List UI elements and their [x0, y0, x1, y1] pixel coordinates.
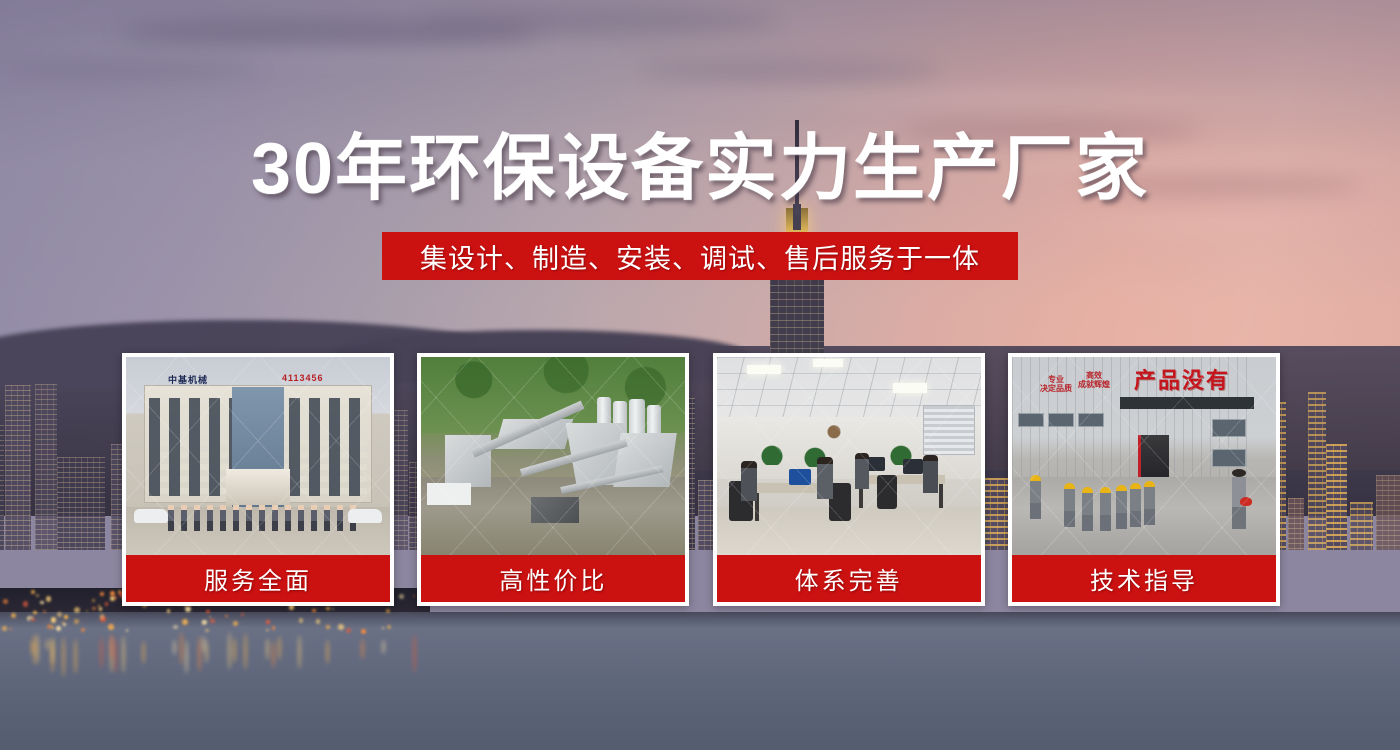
subtitle-banner: 集设计、制造、安装、调试、售后服务于一体 [382, 232, 1018, 280]
worker-legs [1116, 513, 1127, 529]
cloud-band [1000, 215, 1400, 233]
window-blinds [923, 405, 975, 455]
person [923, 455, 938, 493]
white-shed [427, 483, 471, 505]
shore-light [382, 627, 384, 629]
shore-light [346, 628, 351, 633]
worker-legs [1130, 511, 1141, 527]
shore-light [57, 612, 62, 617]
skyline-building [1308, 392, 1326, 550]
worker-body [1064, 489, 1075, 511]
worker [1130, 483, 1141, 527]
company-phone-text: 4113456 [282, 373, 324, 383]
shore-light [74, 619, 78, 623]
shore-light [2, 626, 6, 630]
staff-member [259, 505, 265, 531]
worker [1030, 475, 1041, 519]
staff-member [168, 505, 174, 531]
shore-light [299, 618, 303, 622]
shore-light [338, 624, 344, 630]
water-reflection [110, 634, 113, 660]
supervisor-legs [1232, 507, 1246, 529]
desk-leg [939, 484, 943, 508]
card-thumbnail-headquarters: 中基机械 4113456 [126, 357, 390, 555]
shore-light [43, 610, 46, 613]
supervisor-head [1232, 469, 1246, 477]
skyline-building [5, 385, 31, 550]
person [817, 457, 833, 499]
card-thumbnail-plant [421, 357, 685, 555]
shore-light [100, 592, 104, 596]
window [1078, 413, 1104, 427]
water-reflection [185, 640, 188, 674]
wall-slogan-text: 产品没有 [1134, 363, 1230, 395]
worker [1116, 485, 1127, 529]
shore-light [316, 619, 321, 624]
worker-legs [1082, 515, 1093, 531]
promo-banner: 30年环保设备实力生产厂家 集设计、制造、安装、调试、售后服务于一体 中基机械 … [0, 0, 1400, 750]
monitor [789, 469, 811, 485]
staff-member [207, 505, 213, 531]
card-caption: 体系完善 [717, 555, 981, 602]
staff-member [337, 505, 343, 531]
shore-light [266, 629, 268, 631]
skyline-building [57, 457, 105, 550]
red-helmet [1240, 497, 1252, 506]
skyline-building [1350, 502, 1373, 550]
slogan-left-main: 专业 [1048, 375, 1064, 384]
parked-car [134, 509, 168, 523]
shore-light [126, 629, 128, 631]
water-reflection [244, 633, 247, 670]
shore-light [266, 620, 270, 624]
page-title: 30年环保设备实力生产厂家 [0, 133, 1400, 205]
card-caption: 高性价比 [421, 555, 685, 602]
staff-member [181, 505, 187, 531]
feature-card[interactable]: 高性价比 [417, 353, 689, 606]
shore-light [173, 625, 178, 630]
water-reflection [361, 639, 364, 659]
worker-legs [1064, 511, 1075, 527]
worker [1144, 481, 1155, 525]
slogan-mid-sub: 成就辉煌 [1078, 380, 1110, 389]
shore-light [110, 625, 112, 627]
staff-member [298, 505, 304, 531]
staff-member [324, 505, 330, 531]
staff-member [311, 505, 317, 531]
worker-legs [1144, 509, 1155, 525]
cloud [640, 60, 940, 82]
card-caption: 技术指导 [1012, 555, 1276, 602]
wall-slogan-mid: 高效 成就辉煌 [1078, 371, 1110, 389]
shore-light [326, 607, 330, 611]
shore-light [64, 615, 67, 618]
worker-body [1116, 491, 1127, 513]
window [1048, 413, 1074, 427]
wall-slogan-left: 专业 决定品质 [1040, 375, 1072, 393]
potted-plant [761, 443, 783, 465]
water-reflection [122, 635, 125, 672]
skyline-building [35, 384, 57, 550]
ceiling-light [893, 383, 927, 393]
feature-card[interactable]: 中基机械 4113456 服务全面 [122, 353, 394, 606]
water-reflection [272, 641, 275, 668]
water-reflection [62, 637, 65, 677]
water-reflection [173, 640, 176, 655]
window [1212, 449, 1246, 467]
shore-light [56, 626, 61, 631]
shore-light [74, 607, 80, 613]
feature-card[interactable]: 体系完善 [713, 353, 985, 606]
water-reflection [278, 636, 281, 660]
shore-light [205, 629, 209, 633]
cloud-band [560, 88, 1400, 108]
skyline-building [1376, 475, 1400, 550]
building-entrance [226, 469, 290, 505]
shore-light [272, 626, 276, 630]
shore-light [361, 629, 366, 634]
monitor [867, 457, 885, 471]
staff-member [220, 505, 226, 531]
water-reflection [142, 641, 145, 664]
shore-light [167, 609, 171, 613]
wall-logo [821, 423, 847, 445]
shore-light [386, 609, 390, 613]
shore-light [210, 619, 214, 623]
shore-light [51, 626, 54, 629]
shed [531, 497, 579, 523]
water-reflection [198, 636, 201, 673]
skyline-building [1326, 444, 1347, 550]
shore-light [110, 591, 115, 596]
shore-light [185, 606, 191, 612]
feature-card[interactable]: 产品没有 专业 决定品质 高效 成就辉煌 [1008, 353, 1280, 606]
staff-member [285, 505, 291, 531]
slogan-left-sub: 决定品质 [1040, 384, 1072, 393]
shore-light [110, 596, 115, 601]
shore-light [387, 625, 391, 629]
card-thumbnail-training: 产品没有 专业 决定品质 高效 成就辉煌 [1012, 357, 1276, 555]
worker [1082, 487, 1093, 531]
monitor [903, 459, 923, 474]
shore-light [31, 590, 34, 593]
worker [1100, 487, 1111, 531]
skyline-building [0, 425, 4, 550]
slogan-mid-main: 高效 [1086, 371, 1102, 380]
cloud [0, 60, 260, 80]
water-reflection [51, 639, 54, 673]
worker-legs [1030, 503, 1041, 519]
subtitle-text: 集设计、制造、安装、调试、售后服务于一体 [420, 237, 980, 276]
parked-car [348, 509, 382, 523]
worker-body [1030, 481, 1041, 503]
shore-light [40, 601, 43, 604]
window [1018, 413, 1044, 427]
water-reflection [413, 634, 416, 673]
person [855, 453, 869, 489]
feature-card-list: 中基机械 4113456 服务全面 [122, 353, 1280, 606]
shore-light [332, 608, 334, 610]
worker-body [1082, 493, 1093, 515]
worker-body [1100, 493, 1111, 515]
chair [877, 475, 897, 509]
shore-light [99, 607, 102, 610]
ceiling-light [747, 365, 781, 374]
shore-light [312, 609, 316, 613]
staff-member [233, 505, 239, 531]
staff-member [246, 505, 252, 531]
worker-legs [1100, 515, 1111, 531]
cloud [420, 8, 780, 34]
worker-body [1130, 489, 1141, 511]
worker-body [1144, 487, 1155, 509]
window [1212, 419, 1246, 437]
staff-member [194, 505, 200, 531]
shore-light [11, 613, 16, 618]
river-water [0, 612, 1400, 750]
shore-light [30, 616, 33, 619]
skyline-building [1288, 498, 1304, 550]
factory-door [1138, 435, 1169, 479]
company-sign-text: 中基机械 [168, 373, 208, 386]
shore-light [9, 628, 12, 631]
shore-light [46, 596, 51, 601]
shore-light [182, 619, 188, 625]
card-caption: 服务全面 [126, 555, 390, 602]
shore-light [92, 599, 95, 602]
shore-light [326, 625, 330, 629]
water-reflection [228, 632, 231, 670]
water-reflection [298, 635, 301, 669]
staff-member [272, 505, 278, 531]
water-reflection [100, 637, 103, 669]
card-thumbnail-office [717, 357, 981, 555]
water-reflection [382, 640, 385, 653]
person [741, 461, 757, 501]
ceiling-light [813, 359, 843, 367]
roof-strip [1120, 397, 1254, 409]
shore-light [114, 596, 117, 599]
worker [1064, 483, 1075, 527]
